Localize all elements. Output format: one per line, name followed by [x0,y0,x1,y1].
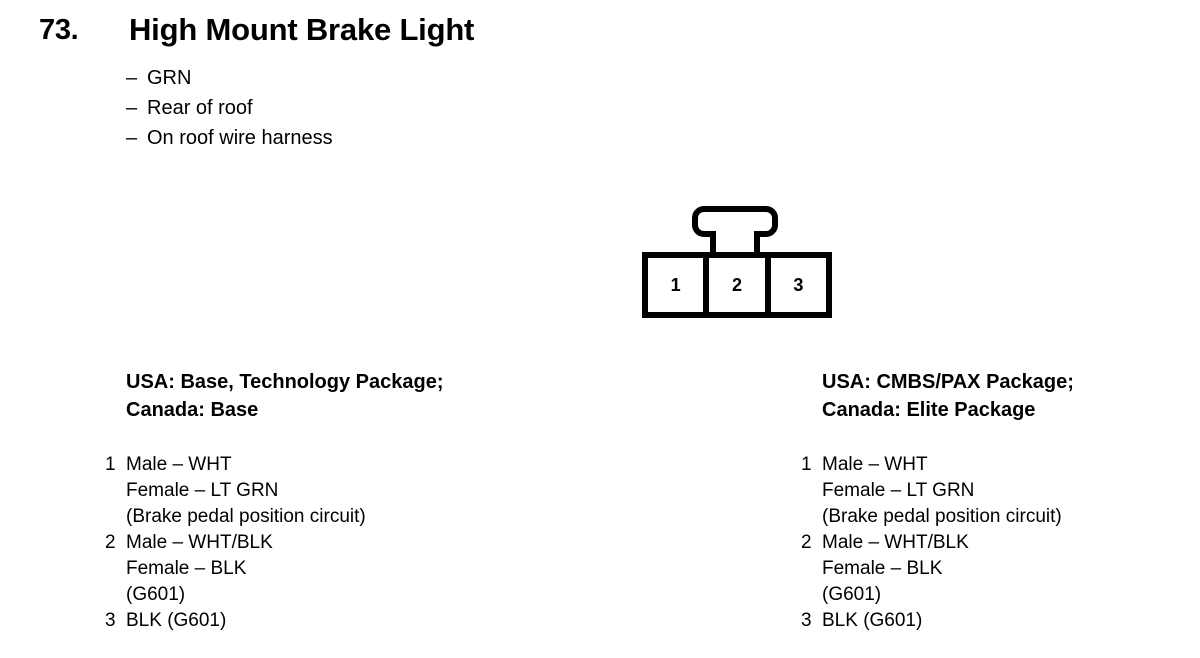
note-text: GRN [147,63,191,93]
cavity-number: 2 [732,275,742,296]
note-text: On roof wire harness [147,123,333,153]
column-heading-line2: Canada: Base [126,396,444,424]
pin-number: 1 [801,452,822,478]
pin-text: Male – WHT [822,452,928,478]
pin-entry: 1 Male – WHT 0 Female – LT GRN 0 (Brake … [105,452,625,530]
pin-number: 2 [801,530,822,556]
list-item: – On roof wire harness [126,123,333,153]
connector-diagram: 1 2 3 [642,206,832,318]
component-notes-list: – GRN – Rear of roof – On roof wire harn… [126,63,333,153]
dash-icon: – [126,93,147,123]
pin-entry: 1 Male – WHT 0 Female – LT GRN 0 (Brake … [801,452,1200,530]
pin-number: 3 [105,608,126,634]
connector-cavity-2: 2 [703,258,764,312]
pin-line: 3 BLK (G601) [801,608,1200,634]
pin-list: 1 Male – WHT 0 Female – LT GRN 0 (Brake … [801,452,1200,634]
variant-column-left: USA: Base, Technology Package; Canada: B… [126,368,444,424]
dash-icon: – [126,63,147,93]
pin-text: (Brake pedal position circuit) [822,504,1062,530]
section-number: 73. [39,16,78,45]
pin-text: (G601) [822,582,881,608]
pin-text: Male – WHT/BLK [126,530,273,556]
pin-text: Female – BLK [822,556,942,582]
pin-text: Male – WHT/BLK [822,530,969,556]
connector-cavity-3: 3 [765,258,826,312]
pin-line: 0 (G601) [105,582,625,608]
connector-cavity-1: 1 [648,258,703,312]
pin-number: 3 [801,608,822,634]
list-item: – GRN [126,63,333,93]
pin-entry: 2 Male – WHT/BLK 0 Female – BLK 0 (G601) [105,530,625,608]
pin-line: 0 (Brake pedal position circuit) [105,504,625,530]
column-heading-line1: USA: Base, Technology Package; [126,368,444,396]
pin-line: 0 Female – BLK [801,556,1200,582]
pin-text: Female – BLK [126,556,246,582]
pin-line: 1 Male – WHT [105,452,625,478]
pin-entry: 2 Male – WHT/BLK 0 Female – BLK 0 (G601) [801,530,1200,608]
pin-entry: 3 BLK (G601) [801,608,1200,634]
pin-line: 3 BLK (G601) [105,608,625,634]
column-heading-line1: USA: CMBS/PAX Package; [822,368,1074,396]
pin-list: 1 Male – WHT 0 Female – LT GRN 0 (Brake … [105,452,625,634]
cavity-number: 3 [793,275,803,296]
pin-number: 2 [105,530,126,556]
pin-text: Male – WHT [126,452,232,478]
wiring-diagram-page: 73. High Mount Brake Light – GRN – Rear … [0,0,1200,658]
pin-text: (Brake pedal position circuit) [126,504,366,530]
list-item: – Rear of roof [126,93,333,123]
variant-column-right: USA: CMBS/PAX Package; Canada: Elite Pac… [822,368,1074,424]
pin-text: Female – LT GRN [126,478,278,504]
pin-line: 0 Female – LT GRN [801,478,1200,504]
pin-line: 0 (G601) [801,582,1200,608]
connector-body: 1 2 3 [642,252,832,318]
pin-line: 2 Male – WHT/BLK [801,530,1200,556]
pin-text: BLK (G601) [126,608,226,634]
pin-line: 1 Male – WHT [801,452,1200,478]
pin-line: 2 Male – WHT/BLK [105,530,625,556]
cavity-number: 1 [671,275,681,296]
pin-line: 0 (Brake pedal position circuit) [801,504,1200,530]
pin-line: 0 Female – LT GRN [105,478,625,504]
note-text: Rear of roof [147,93,253,123]
pin-text: BLK (G601) [822,608,922,634]
pin-line: 0 Female – BLK [105,556,625,582]
dash-icon: – [126,123,147,153]
pin-text: Female – LT GRN [822,478,974,504]
column-heading-line2: Canada: Elite Package [822,396,1074,424]
pin-entry: 3 BLK (G601) [105,608,625,634]
page-title: High Mount Brake Light [129,14,474,45]
pin-text: (G601) [126,582,185,608]
pin-number: 1 [105,452,126,478]
